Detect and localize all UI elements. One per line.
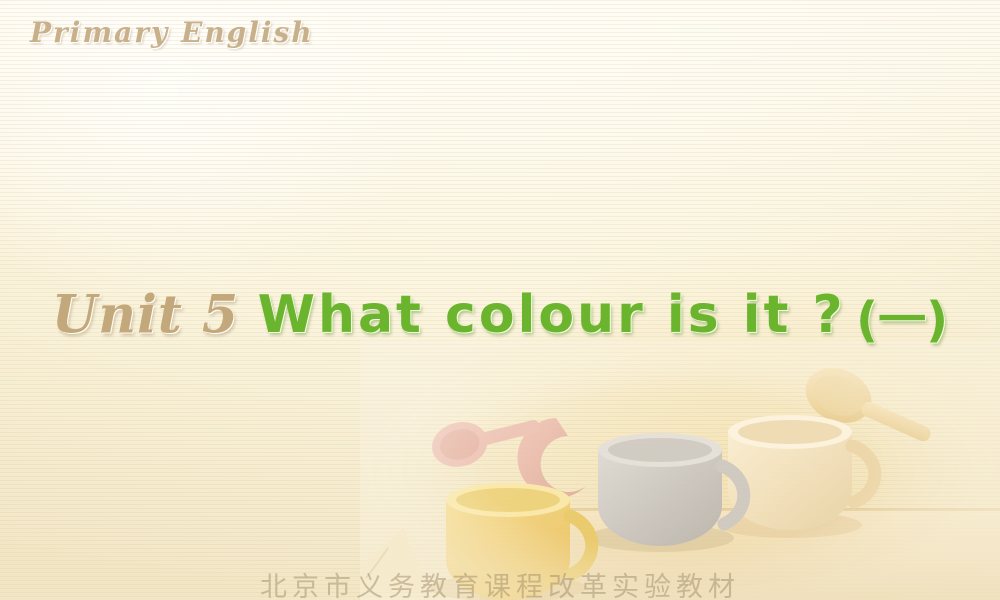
bottom-note: 北京市义务教育课程改革实验教材 (0, 565, 1000, 600)
page-title: Primary English (30, 16, 314, 49)
title-unit-label: Unit 5 (52, 285, 239, 346)
title-suffix-label: (一) (856, 292, 948, 348)
cups-and-spoons-artwork (360, 340, 1000, 600)
slide-canvas: Primary English Unit 5 What colour is it… (0, 0, 1000, 600)
title-main-label: What colour is it ? (258, 285, 846, 345)
title-row: Unit 5 What colour is it ? (一) (0, 280, 1000, 350)
